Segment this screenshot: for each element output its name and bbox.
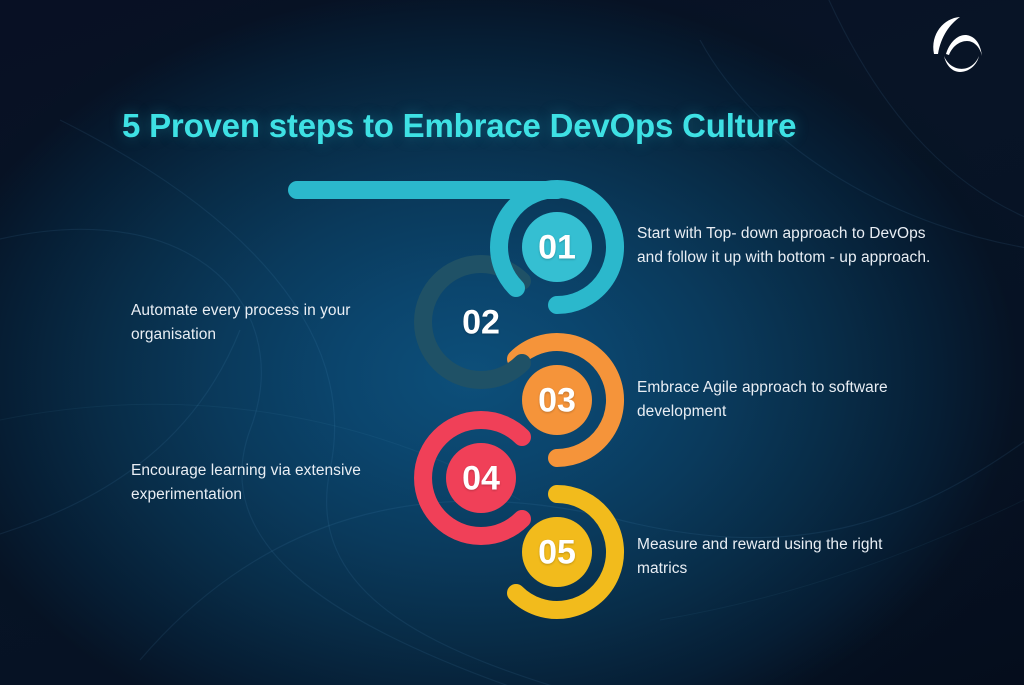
step-number-04: 04 [462, 460, 500, 499]
step-description-02: Automate every process in your organisat… [131, 299, 431, 346]
step-description-05: Measure and reward using the right matri… [637, 533, 937, 580]
step-number-01: 01 [538, 229, 576, 268]
step-description-04: Encourage learning via extensive experim… [131, 459, 431, 506]
step-number-05: 05 [538, 534, 576, 573]
step-description-01: Start with Top- down approach to DevOps … [637, 222, 937, 269]
step-description-03: Embrace Agile approach to software devel… [637, 376, 937, 423]
infographic-canvas: 5 Proven steps to Embrace DevOps Culture [0, 0, 1024, 685]
step-number-03: 03 [538, 382, 576, 421]
step-number-02: 02 [462, 304, 500, 343]
